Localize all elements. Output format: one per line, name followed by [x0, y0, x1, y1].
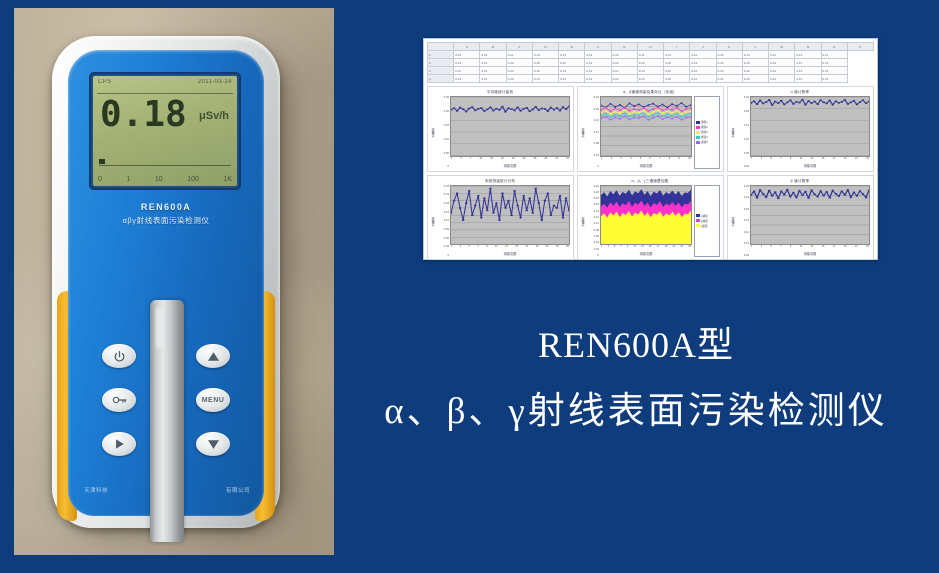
page-subtitle: α、β、γ射线表面污染检测仪 — [333, 380, 939, 434]
spreadsheet-cell: 0.13 — [585, 67, 611, 75]
power-button[interactable] — [102, 344, 136, 368]
spreadsheet-column-header: K — [716, 43, 742, 51]
spreadsheet-cell: 0.14 — [611, 75, 637, 83]
chart-x-axis-label: 测量次数 — [750, 163, 870, 169]
spreadsheet-cell: 0.11 — [795, 59, 821, 67]
spreadsheet-cell: 0.12 — [454, 51, 480, 59]
chart-y-axis-label: 计数率 — [580, 185, 586, 258]
page-title: REN600A型 — [333, 325, 939, 366]
chart-y-tick: 0.08 — [594, 142, 599, 145]
spreadsheet-header-row: ABCDEFGHIJKLMNOP — [428, 43, 874, 51]
chart-legend-swatch — [696, 219, 700, 222]
spreadsheet-row: 10.120.150.110.140.130.120.160.110.130.1… — [428, 51, 874, 59]
chart-y-tick: 0.05 — [444, 152, 449, 155]
chart-y-tick: 0 — [598, 165, 600, 168]
chart-legend-label: α通道 — [701, 214, 708, 218]
menu-button[interactable]: MENU — [196, 388, 230, 412]
spreadsheet-cell: 0.13 — [716, 67, 742, 75]
spreadsheet-cell: 0.12 — [585, 51, 611, 59]
chart-legend: α通道β通道γ通道 — [694, 185, 720, 258]
spreadsheet-cell: 0.13 — [664, 51, 690, 59]
chart-y-tick: 0.20 — [444, 110, 449, 113]
data-spreadsheet: ABCDEFGHIJKLMNOP 10.120.150.110.140.130.… — [427, 42, 874, 83]
spreadsheet-cell: 0.14 — [532, 51, 558, 59]
chart-y-tick: 0.06 — [444, 237, 449, 240]
chart-y-tick: 0.04 — [744, 254, 749, 257]
chart-y-tick: 0 — [598, 254, 600, 257]
chart-y-tick: 0.24 — [594, 96, 599, 99]
spreadsheet-column-header: P — [847, 43, 873, 51]
chart-legend-item: 通道1 — [696, 120, 718, 124]
spreadsheet-cell: 0.13 — [611, 59, 637, 67]
chart-y-axis-label: 计数率 — [580, 96, 586, 169]
spreadsheet-column-header: H — [637, 43, 663, 51]
chart-plot-area — [600, 96, 692, 157]
chart-top-middle: α、β通道测量结果对比（多组）计数率0.240.200.160.120.080.… — [577, 86, 724, 172]
power-icon — [113, 350, 126, 363]
spreadsheet-cell: 0.14 — [821, 75, 847, 83]
chart-legend-label: 通道2 — [701, 125, 708, 129]
lcd-scale-tick: 0 — [98, 176, 102, 183]
chart-legend-item: 通道2 — [696, 125, 718, 129]
chart-legend-item: 通道5 — [696, 140, 718, 144]
chart-y-ticks: 0.220.200.180.160.140.120.100.080.060.04… — [586, 185, 600, 258]
chart-top-right: α 道计数率计数率0.220.180.140.100.060.021357911… — [727, 86, 874, 172]
spreadsheet-column-header: E — [559, 43, 585, 51]
chart-y-tick: 0.22 — [744, 185, 749, 188]
spreadsheet-cell: 0.11 — [454, 67, 480, 75]
chart-legend-swatch — [696, 224, 700, 227]
spreadsheet-cell: 0.14 — [795, 67, 821, 75]
chart-y-tick: 0.20 — [594, 191, 599, 194]
chart-x-axis-label: 测量次数 — [450, 251, 570, 257]
chart-y-tick: 0.18 — [744, 110, 749, 113]
chart-y-tick: 0.19 — [744, 196, 749, 199]
chart-legend-item: α通道 — [696, 214, 718, 218]
chart-legend-label: 通道4 — [701, 135, 708, 139]
chart-x-axis-label: 测量次数 — [450, 163, 570, 169]
spreadsheet-cell: 0.14 — [742, 51, 768, 59]
chart-title: β 道计数率 — [730, 178, 870, 185]
chart-y-tick: 0.20 — [594, 108, 599, 111]
chart-y-tick: 0.10 — [744, 138, 749, 141]
chart-y-tick: 0.18 — [594, 197, 599, 200]
lcd-scale-tick: 1K — [223, 176, 232, 183]
lcd-scale-labels: 0 1 10 100 1K — [98, 176, 232, 183]
device-photo: CPS 2011-03-24 0.18 μSv/h 0 1 10 100 1K — [14, 8, 334, 555]
spreadsheet-cell: 0.12 — [480, 75, 506, 83]
spreadsheet-cell: 0.16 — [611, 51, 637, 59]
spreadsheet-cell: 0.12 — [559, 75, 585, 83]
arrow-up-icon — [207, 351, 220, 362]
chart-y-tick: 0.21 — [444, 193, 449, 196]
chart-x-axis-label: 测量次数 — [600, 251, 692, 257]
spreadsheet-row-header: 4 — [428, 75, 454, 83]
chart-top-left: 平均值统计曲线计数率0.250.200.150.100.050147101316… — [427, 86, 574, 172]
chart-y-tick: 0.25 — [444, 96, 449, 99]
spreadsheet-column-header: J — [690, 43, 716, 51]
menu-button-label: MENU — [202, 397, 225, 404]
chart-y-tick: 0 — [448, 165, 450, 168]
device-handle — [150, 300, 184, 542]
chart-legend-swatch — [696, 126, 700, 129]
chart-legend-label: 通道5 — [701, 140, 708, 144]
chart-legend-label: 通道3 — [701, 130, 708, 134]
chart-bottom-middle: α、β、γ三通道叠加图计数率0.220.200.180.160.140.120.… — [577, 175, 724, 261]
spreadsheet-cell: 0.15 — [716, 51, 742, 59]
down-button[interactable] — [196, 432, 230, 456]
spreadsheet-column-header: G — [611, 43, 637, 51]
spreadsheet-column-header: L — [742, 43, 768, 51]
spreadsheet-cell: 0.12 — [821, 67, 847, 75]
spreadsheet-column-header: F — [585, 43, 611, 51]
chart-title: α、β、γ三通道叠加图 — [580, 178, 720, 185]
spreadsheet-cell: 0.12 — [769, 75, 795, 83]
spreadsheet-cell: 0.16 — [480, 67, 506, 75]
spreadsheet-cell: 0.13 — [795, 51, 821, 59]
device-model-label: REN600A — [68, 202, 264, 212]
key-button[interactable] — [102, 388, 136, 412]
spreadsheet-corner-cell — [428, 43, 454, 51]
chart-y-tick: 0.24 — [444, 185, 449, 188]
chart-plot-area — [450, 185, 570, 246]
spreadsheet-column-header: O — [821, 43, 847, 51]
chart-y-tick: 0.02 — [744, 165, 749, 168]
lcd-status-bar: CPS 2011-03-24 — [98, 79, 232, 85]
spreadsheet-column-header: M — [769, 43, 795, 51]
chart-bottom-right: β 道计数率计数率0.220.190.160.130.100.070.04135… — [727, 175, 874, 261]
chart-title: α 道计数率 — [730, 89, 870, 96]
spreadsheet-cell: 0.12 — [664, 67, 690, 75]
device-branding: REN600A αβγ射线表面污染检测仪 — [68, 202, 264, 226]
spreadsheet-cell: 0.12 — [769, 51, 795, 59]
spreadsheet-cell: 0.14 — [716, 75, 742, 83]
chart-y-ticks: 0.240.210.180.150.120.090.060.030 — [436, 185, 450, 258]
chart-y-tick: 0.10 — [744, 231, 749, 234]
chart-legend-swatch — [696, 121, 700, 124]
chart-y-ticks: 0.250.200.150.100.050 — [436, 96, 450, 169]
chart-y-tick: 0.03 — [444, 245, 449, 248]
chart-y-axis-label: 计数率 — [430, 185, 436, 258]
chart-legend-item: γ通道 — [696, 224, 718, 228]
spreadsheet-column-header: A — [454, 43, 480, 51]
chart-y-tick: 0.12 — [594, 216, 599, 219]
spreadsheet-row-header: 1 — [428, 51, 454, 59]
chart-plot-area — [450, 96, 570, 157]
chart-y-tick: 0.18 — [444, 202, 449, 205]
spreadsheet-cell: 0.13 — [480, 59, 506, 67]
chart-y-tick: 0.10 — [444, 138, 449, 141]
chart-y-tick: 0.16 — [594, 203, 599, 206]
spreadsheet-cell: 0.15 — [532, 59, 558, 67]
spreadsheet-cell: 0.14 — [585, 59, 611, 67]
lcd-screen: CPS 2011-03-24 0.18 μSv/h 0 1 10 100 1K — [93, 76, 237, 186]
device-faceplate: CPS 2011-03-24 0.18 μSv/h 0 1 10 100 1K — [68, 50, 264, 516]
spreadsheet-cell: 0.15 — [664, 75, 690, 83]
chart-y-tick: 0.22 — [594, 185, 599, 188]
chart-y-tick: 0.04 — [594, 154, 599, 157]
spreadsheet-cell: 0.13 — [742, 75, 768, 83]
lcd-reading-value: 0.18 — [100, 97, 187, 133]
chart-y-tick: 0.13 — [744, 219, 749, 222]
spreadsheet-column-header: C — [506, 43, 532, 51]
spreadsheet-cell: 0.12 — [637, 59, 663, 67]
spreadsheet-cell: 0.14 — [637, 67, 663, 75]
lcd-bezel: CPS 2011-03-24 0.18 μSv/h 0 1 10 100 1K — [89, 72, 241, 190]
spreadsheet-column-header: N — [795, 43, 821, 51]
chart-y-tick: 0.15 — [444, 124, 449, 127]
play-button[interactable] — [102, 432, 136, 456]
device-footmark-left: 天津科技 — [84, 486, 108, 494]
product-poster: CPS 2011-03-24 0.18 μSv/h 0 1 10 100 1K — [0, 0, 939, 573]
spreadsheet-cell: 0.16 — [585, 75, 611, 83]
spreadsheet-cell: 0.14 — [454, 59, 480, 67]
chart-legend-swatch — [696, 136, 700, 139]
spreadsheet-row-header: 2 — [428, 59, 454, 67]
chart-y-ticks: 0.240.200.160.120.080.040 — [586, 96, 600, 169]
key-icon — [112, 394, 127, 406]
chart-plot-area — [750, 96, 870, 157]
chart-legend-label: 通道1 — [701, 120, 708, 124]
spreadsheet-cell: 0.11 — [506, 51, 532, 59]
lcd-status-right: 2011-03-24 — [198, 79, 232, 85]
spreadsheet-cell: 0.13 — [637, 75, 663, 83]
chart-y-tick: 0.06 — [594, 235, 599, 238]
spreadsheet-cell: 0.11 — [690, 75, 716, 83]
spreadsheet-cell: 0.12 — [506, 59, 532, 67]
chart-y-axis-label: 计数率 — [730, 96, 736, 169]
chart-grid: 平均值统计曲线计数率0.250.200.150.100.050147101316… — [427, 86, 874, 260]
lcd-status-left: CPS — [98, 79, 112, 85]
spreadsheet-cell: 0.11 — [559, 59, 585, 67]
spreadsheet-cell: 0.11 — [637, 51, 663, 59]
lcd-reading-unit: μSv/h — [199, 110, 229, 122]
chart-y-tick: 0.15 — [444, 211, 449, 214]
lcd-scale-tick: 1 — [126, 176, 130, 183]
chart-legend-label: γ通道 — [701, 224, 707, 228]
spreadsheet-column-header: D — [532, 43, 558, 51]
spreadsheet-cell: 0.13 — [690, 59, 716, 67]
chart-y-tick: 0.16 — [744, 208, 749, 211]
lcd-scale-tick: 100 — [187, 176, 199, 183]
spreadsheet-cell: 0.15 — [559, 67, 585, 75]
play-icon — [113, 438, 126, 450]
spreadsheet-row: 40.130.120.150.130.120.160.140.130.150.1… — [428, 75, 874, 83]
spreadsheet-cell: 0.12 — [742, 67, 768, 75]
chart-legend: 通道1通道2通道3通道4通道5 — [694, 96, 720, 169]
spreadsheet-cell: 0.14 — [506, 67, 532, 75]
chart-y-tick: 0.06 — [744, 152, 749, 155]
chart-legend-item: 通道4 — [696, 135, 718, 139]
spreadsheet-cell: 0.15 — [795, 75, 821, 83]
spreadsheet-cell: 0.15 — [742, 59, 768, 67]
spreadsheet-cell: 0.12 — [532, 67, 558, 75]
device-subtitle-label: αβγ射线表面污染检测仪 — [68, 215, 264, 226]
chart-legend-swatch — [696, 141, 700, 144]
chart-y-tick: 0 — [448, 254, 450, 257]
chart-y-tick: 0.14 — [594, 210, 599, 213]
up-button[interactable] — [196, 344, 230, 368]
chart-legend-item: 通道3 — [696, 130, 718, 134]
spreadsheet-cell: 0.15 — [480, 51, 506, 59]
software-screenshot-panel: ABCDEFGHIJKLMNOP 10.120.150.110.140.130.… — [423, 38, 878, 260]
spreadsheet-cell: 0.11 — [611, 67, 637, 75]
chart-y-ticks: 0.220.180.140.100.060.02 — [736, 96, 750, 169]
chart-y-axis-label: 计数率 — [430, 96, 436, 169]
arrow-down-icon — [207, 439, 220, 450]
spreadsheet-cell: 0.11 — [821, 51, 847, 59]
spreadsheet-cell: 0.13 — [454, 75, 480, 83]
chart-legend-label: β通道 — [701, 219, 708, 223]
spreadsheet-cell: 0.15 — [506, 75, 532, 83]
chart-x-axis-label: 测量次数 — [600, 163, 692, 169]
chart-bottom-left: 本底测量统计分布计数率0.240.210.180.150.120.090.060… — [427, 175, 574, 261]
chart-y-ticks: 0.220.190.160.130.100.070.04 — [736, 185, 750, 258]
poster-headline: REN600A型 α、β、γ射线表面污染检测仪 — [333, 325, 939, 434]
chart-legend-swatch — [696, 131, 700, 134]
chart-title: 本底测量统计分布 — [430, 178, 570, 185]
lcd-scale-tick: 10 — [155, 176, 163, 183]
chart-y-tick: 0.09 — [444, 228, 449, 231]
spreadsheet-cell: 0.13 — [532, 75, 558, 83]
chart-title: 平均值统计曲线 — [430, 89, 570, 96]
device-body: CPS 2011-03-24 0.18 μSv/h 0 1 10 100 1K — [52, 36, 280, 528]
spreadsheet-column-header: I — [664, 43, 690, 51]
chart-title: α、β通道测量结果对比（多组） — [580, 89, 720, 96]
chart-y-tick: 0.04 — [594, 241, 599, 244]
chart-y-tick: 0.10 — [594, 222, 599, 225]
lcd-bargraph — [99, 158, 231, 166]
chart-plot-area — [600, 185, 692, 246]
chart-y-axis-label: 计数率 — [730, 185, 736, 258]
chart-legend-swatch — [696, 214, 700, 217]
chart-y-tick: 0.22 — [744, 96, 749, 99]
spreadsheet-row-header: 3 — [428, 67, 454, 75]
spreadsheet-cell: 0.14 — [769, 59, 795, 67]
chart-y-tick: 0.14 — [744, 124, 749, 127]
spreadsheet-cell: 0.13 — [821, 59, 847, 67]
spreadsheet-cell: 0.16 — [664, 59, 690, 67]
chart-y-tick: 0.16 — [594, 119, 599, 122]
handle-highlight — [156, 308, 161, 348]
spreadsheet-column-header: B — [480, 43, 506, 51]
chart-y-tick: 0.08 — [594, 229, 599, 232]
spreadsheet-row: 30.110.160.140.120.150.130.110.140.120.1… — [428, 67, 874, 75]
chart-y-tick: 0.02 — [594, 248, 599, 251]
spreadsheet-row: 20.140.130.120.150.110.140.130.120.160.1… — [428, 59, 874, 67]
spreadsheet-cell: 0.16 — [769, 67, 795, 75]
chart-y-tick: 0.07 — [744, 242, 749, 245]
chart-legend-item: β通道 — [696, 219, 718, 223]
device-footmark-right: 有限公司 — [226, 486, 250, 494]
spreadsheet-cell: 0.12 — [716, 59, 742, 67]
spreadsheet-cell: 0.15 — [690, 67, 716, 75]
chart-plot-area — [750, 185, 870, 246]
spreadsheet-cell: 0.13 — [559, 51, 585, 59]
chart-y-tick: 0.12 — [444, 219, 449, 222]
chart-y-tick: 0.12 — [594, 131, 599, 134]
spreadsheet-cell: 0.12 — [690, 51, 716, 59]
chart-x-axis-label: 测量次数 — [750, 251, 870, 257]
